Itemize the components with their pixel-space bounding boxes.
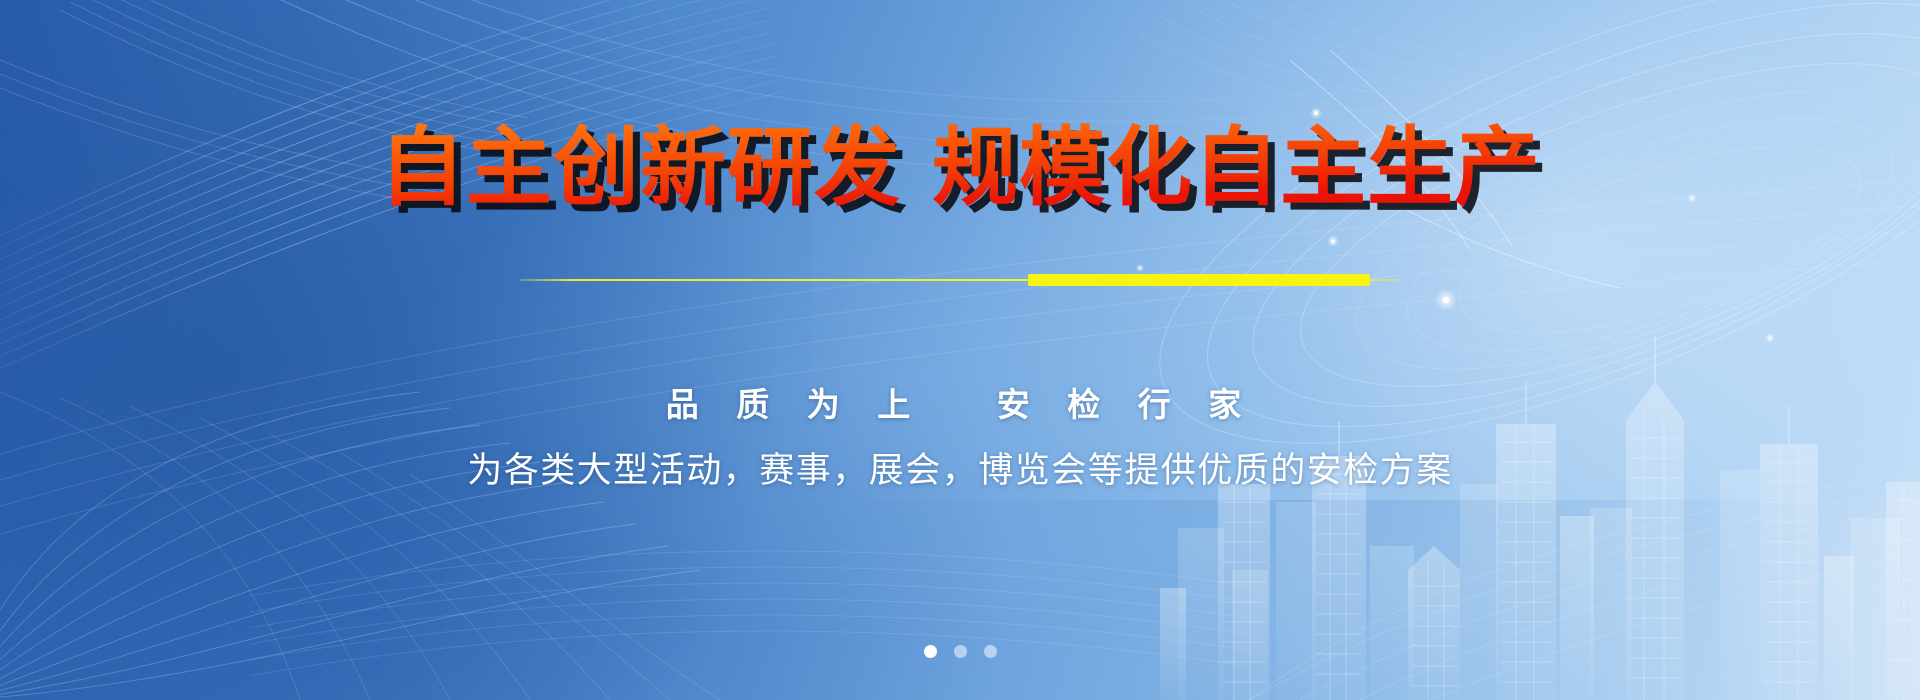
banner-headline: 自主创新研发 规模化自主生产 <box>379 120 1541 216</box>
divider-accent-bar <box>1028 274 1370 286</box>
carousel-dot-3[interactable] <box>984 645 997 658</box>
carousel-indicators <box>0 645 1920 658</box>
carousel-dot-2[interactable] <box>954 645 967 658</box>
headline-container: 自主创新研发 规模化自主生产 <box>0 62 1920 274</box>
banner-description: 为各类大型活动，赛事，展会，博览会等提供优质的安检方案 <box>0 442 1920 493</box>
hero-banner: 自主创新研发 规模化自主生产 品 质 为 上 安 检 行 家 为各类大型活动，赛… <box>0 0 1920 700</box>
headline-divider <box>520 272 1400 288</box>
carousel-dot-1[interactable] <box>924 645 937 658</box>
banner-subtitle: 品 质 为 上 安 检 行 家 <box>0 378 1920 426</box>
